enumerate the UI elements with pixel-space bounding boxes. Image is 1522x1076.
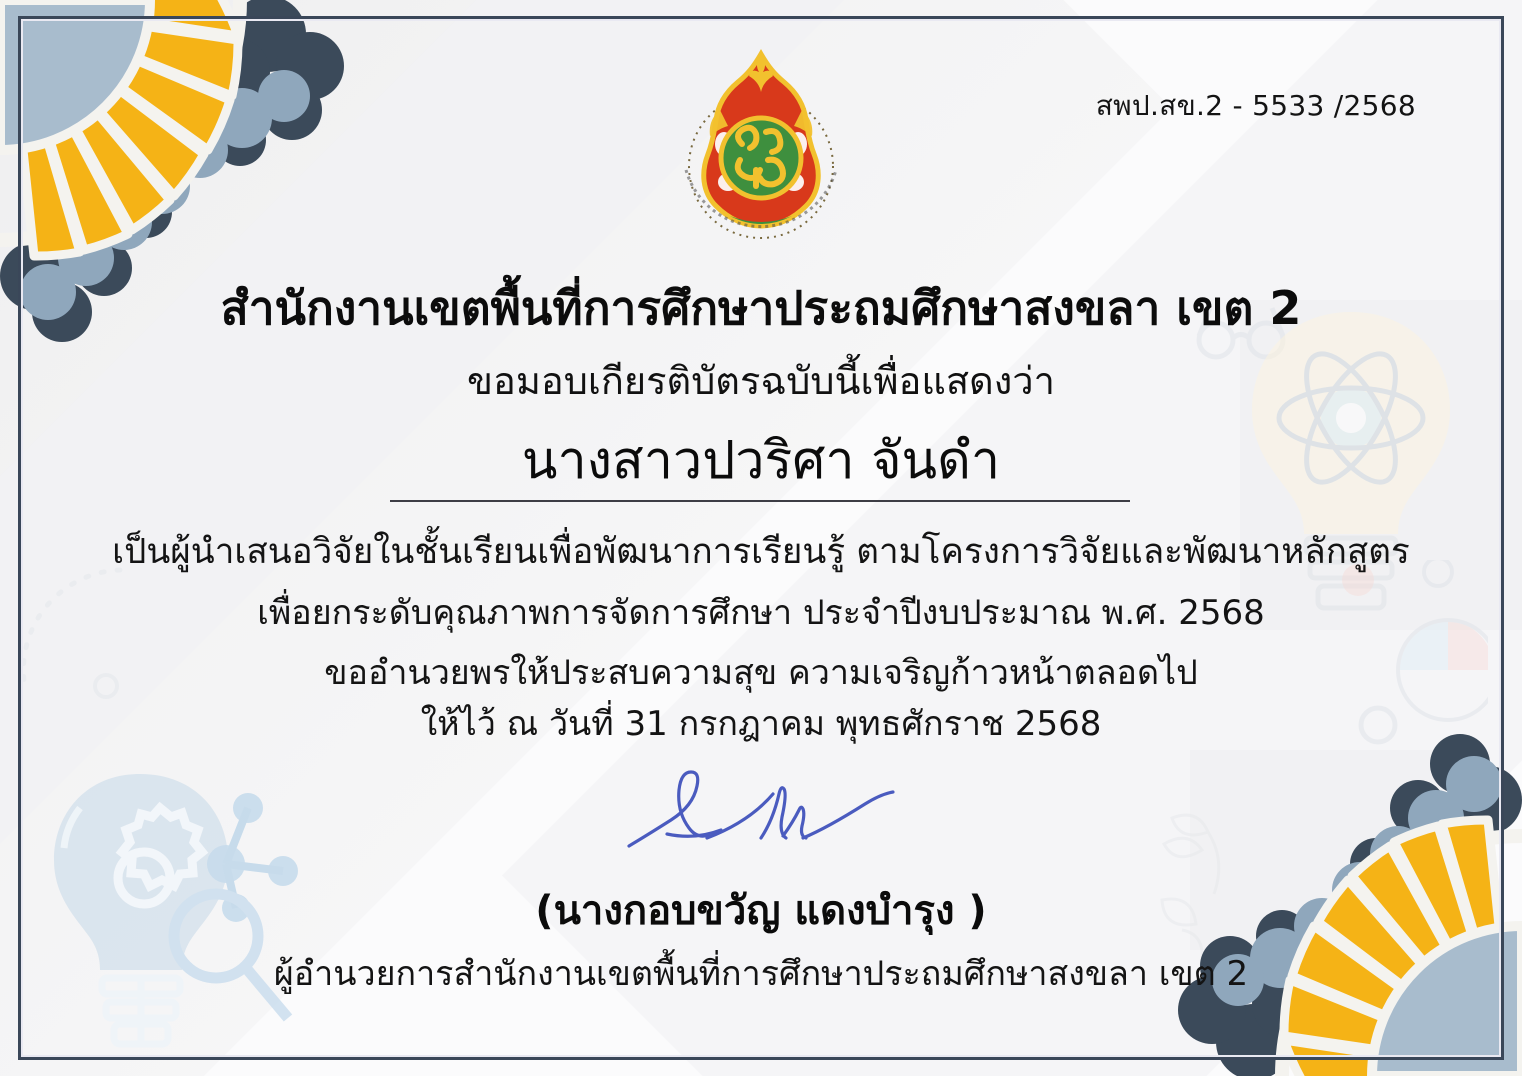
recipient-name: นางสาวปวริศา จันดำ (0, 418, 1522, 501)
divider-rule (390, 500, 1130, 502)
issue-date-line: ให้ไว้ ณ วันที่ 31 กรกฎาคม พุทธศักราช 25… (0, 696, 1522, 750)
document-number: สพป.สข.2 - 5533 /2568 (1096, 84, 1416, 128)
award-subtitle: ขอมอบเกียรติบัตรฉบับนี้เพื่อแสดงว่า (0, 350, 1522, 411)
handwritten-signature (611, 766, 911, 866)
ministry-of-education-seal (668, 48, 854, 248)
organization-title: สำนักงานเขตพื้นที่การศึกษาประถมศึกษาสงขล… (0, 272, 1522, 345)
body-line-1: เป็นผู้นำเสนอวิจัยในชั้นเรียนเพื่อพัฒนาก… (0, 524, 1522, 579)
certificate: สพป.สข.2 - 5533 /2568 สำนักงานเขตพื้นที่… (0, 0, 1522, 1076)
signer-role: ผู้อำนวยการสำนักงานเขตพื้นที่การศึกษาประ… (0, 946, 1522, 1000)
body-line-2: เพื่อยกระดับคุณภาพการจัดการศึกษา ประจำปี… (0, 585, 1522, 639)
signer-name: (นางกอบขวัญ แดงบำรุง ) (0, 878, 1522, 942)
body-line-3: ขออำนวยพรให้ประสบความสุข ความเจริญก้าวหน… (0, 645, 1522, 699)
